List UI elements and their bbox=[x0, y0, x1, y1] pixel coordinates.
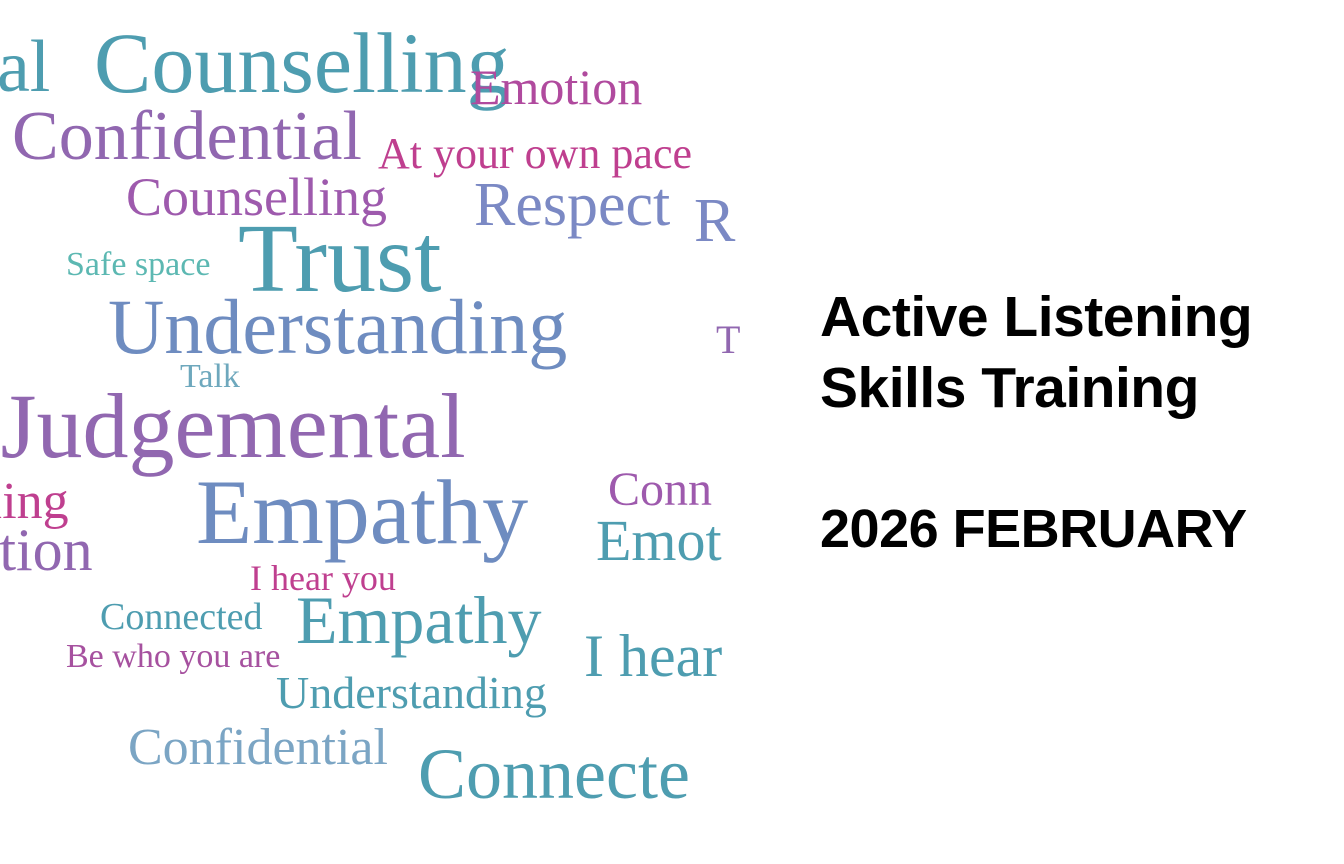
wordcloud-canvas: CounsellingentialEmotionConfidentialAt y… bbox=[0, 0, 746, 826]
wordcloud-word: Conn bbox=[608, 466, 712, 514]
wordcloud-word: R bbox=[694, 190, 735, 252]
wordcloud-word: Understanding bbox=[108, 288, 567, 366]
course-date: 2026 FEBRUARY bbox=[820, 500, 1247, 559]
wordcloud-word: Empathy bbox=[296, 586, 542, 654]
wordcloud-word: Emotion bbox=[470, 62, 642, 112]
wordcloud-word: Connected bbox=[100, 598, 263, 636]
wordcloud-image: CounsellingentialEmotionConfidentialAt y… bbox=[0, 0, 746, 826]
wordcloud-word: Connecte bbox=[418, 738, 690, 810]
wordcloud-word: on-Judgemental bbox=[0, 380, 466, 472]
wordcloud-word: Be who you are bbox=[66, 640, 280, 674]
course-title: Active Listening Skills Training bbox=[820, 282, 1344, 425]
wordcloud-word: ential bbox=[0, 30, 50, 104]
wordcloud-word: Safe space bbox=[66, 248, 210, 282]
wordcloud-word: At your own pace bbox=[378, 132, 692, 176]
wordcloud-word: T bbox=[716, 320, 740, 360]
wordcloud-word: Understanding bbox=[276, 670, 547, 716]
wordcloud-word: Confidential bbox=[12, 102, 362, 172]
wordcloud-word: Emotion bbox=[0, 520, 93, 580]
wordcloud-word: Confidential bbox=[128, 722, 388, 774]
wordcloud-word: Emot bbox=[596, 512, 722, 570]
wordcloud-word: Counselling bbox=[94, 20, 510, 106]
wordcloud-word: I hear bbox=[584, 626, 722, 686]
wordcloud-word: Empathy bbox=[196, 466, 528, 558]
slide-canvas: CounsellingentialEmotionConfidentialAt y… bbox=[0, 0, 1344, 864]
wordcloud-word: Respect bbox=[474, 174, 670, 236]
headline-block: Active Listening Skills Training 2026 FE… bbox=[820, 282, 1344, 425]
